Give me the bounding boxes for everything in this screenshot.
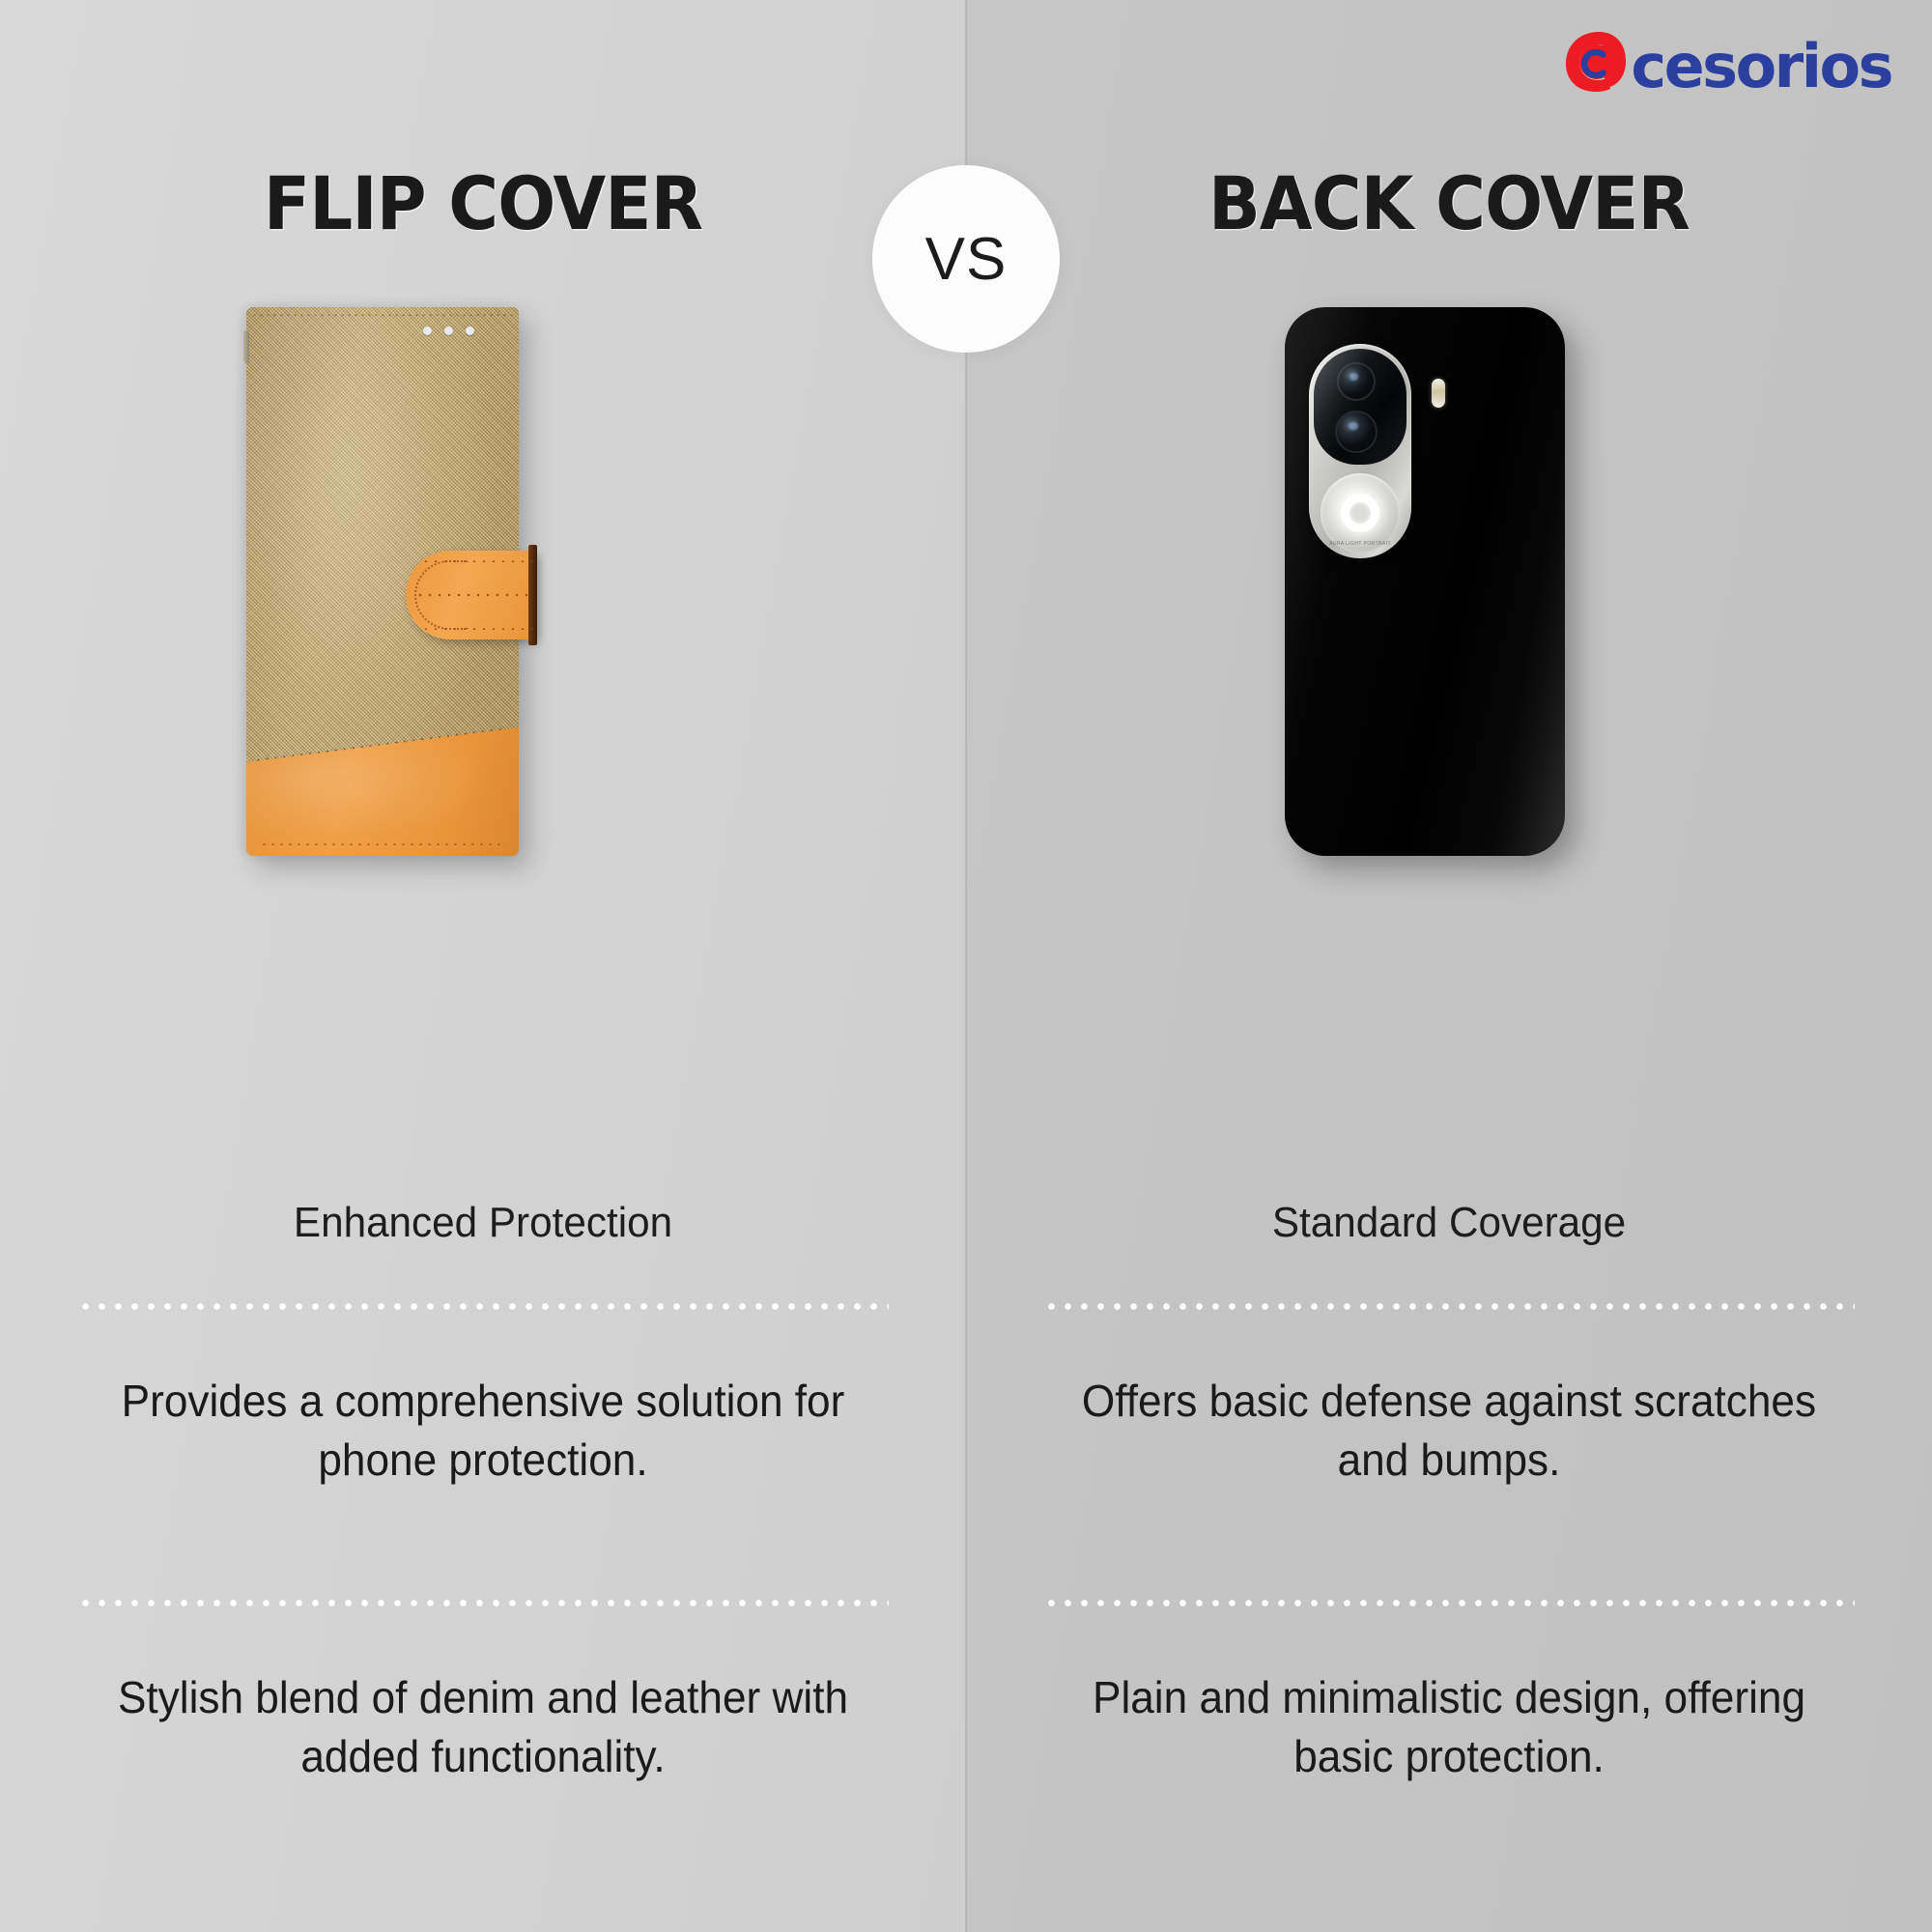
brand-logo-text: cesorios: [1631, 37, 1891, 97]
camera-module-caption: AURA LIGHT PORTRAIT: [1309, 541, 1411, 547]
flip-cover-bottom-stitching: [260, 843, 505, 845]
right-feature-text-1: Offers basic defense against scratches a…: [985, 1372, 1913, 1490]
left-subtitle: Enhanced Protection: [19, 1198, 947, 1249]
flip-cover-hinge: [243, 330, 249, 363]
flip-cover-magnet-dots: [423, 327, 474, 335]
camera-lens-icon: [1337, 412, 1376, 451]
dotted-divider: [77, 1303, 889, 1310]
dotted-divider: [1043, 1600, 1855, 1606]
flip-cover-product-stage: [0, 377, 966, 869]
clasp-stitch-arc: [414, 560, 469, 630]
magnet-dot-icon: [423, 327, 432, 335]
camera-module: AURA LIGHT PORTRAIT: [1309, 344, 1411, 558]
ring-light-inner: [1341, 494, 1379, 532]
right-feature-column: Standard Coverage Offers basic defense a…: [966, 1198, 1932, 1786]
brand-logo: cesorios: [1563, 27, 1891, 100]
magnet-dot-icon: [466, 327, 474, 335]
back-cover-product-stage: AURA LIGHT PORTRAIT: [966, 377, 1932, 869]
left-feature-text-1: Provides a comprehensive solution for ph…: [19, 1372, 947, 1490]
left-feature-text-2: Stylish blend of denim and leather with …: [19, 1668, 947, 1786]
dotted-divider: [77, 1600, 889, 1606]
camera-lens-icon: [1339, 364, 1374, 399]
lens-glint: [1349, 422, 1358, 431]
right-subtitle: Standard Coverage: [985, 1198, 1913, 1249]
acesorios-a-mark-icon: [1563, 28, 1634, 99]
back-cover-image: AURA LIGHT PORTRAIT: [1285, 307, 1565, 856]
lens-glint: [1350, 373, 1358, 381]
left-column-title: FLIP COVER: [34, 160, 932, 246]
aura-ring-light-icon: [1321, 473, 1400, 553]
right-feature-text-2: Plain and minimalistic design, offering …: [985, 1668, 1913, 1786]
left-feature-column: Enhanced Protection Provides a comprehen…: [0, 1198, 966, 1786]
magnet-dot-icon: [444, 327, 453, 335]
dotted-divider: [1043, 1303, 1855, 1310]
flip-cover-magnetic-clasp: [406, 551, 537, 639]
vs-badge: VS: [872, 165, 1060, 353]
camera-flash-icon: [1432, 379, 1445, 408]
camera-glass-panel: [1314, 349, 1406, 465]
flip-cover-top-seam: [251, 314, 514, 316]
right-column-title: BACK COVER: [1000, 160, 1898, 246]
